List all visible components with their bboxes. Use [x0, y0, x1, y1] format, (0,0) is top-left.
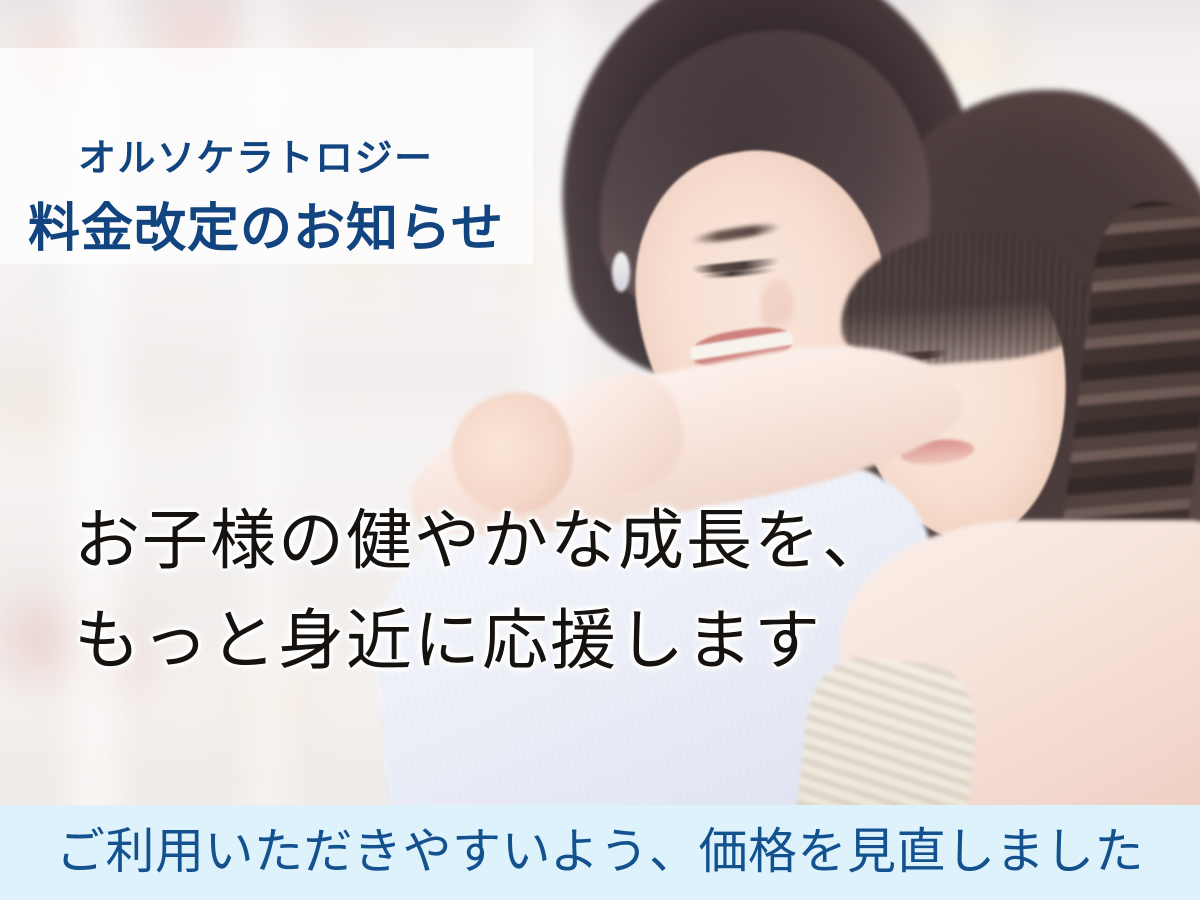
title-panel: オルソケラトロジー 料金改定のお知らせ [0, 48, 533, 264]
promo-banner: オルソケラトロジー 料金改定のお知らせ お子様の健やかな成長を、 もっと身近に応… [0, 0, 1200, 900]
title-line-1: オルソケラトロジー [78, 140, 434, 178]
bottom-message-bar: ご利用いただきやすいよう、価格を見直しました [0, 805, 1200, 900]
headline-line-1: お子様の健やかな成長を、 [74, 492, 890, 592]
headline: お子様の健やかな成長を、 もっと身近に応援します [74, 492, 890, 693]
title-line-2: 料金改定のお知らせ [28, 203, 504, 255]
headline-line-2: もっと身近に応援します [74, 592, 890, 692]
bottom-message-text: ご利用いただきやすいよう、価格を見直しました [56, 828, 1144, 877]
